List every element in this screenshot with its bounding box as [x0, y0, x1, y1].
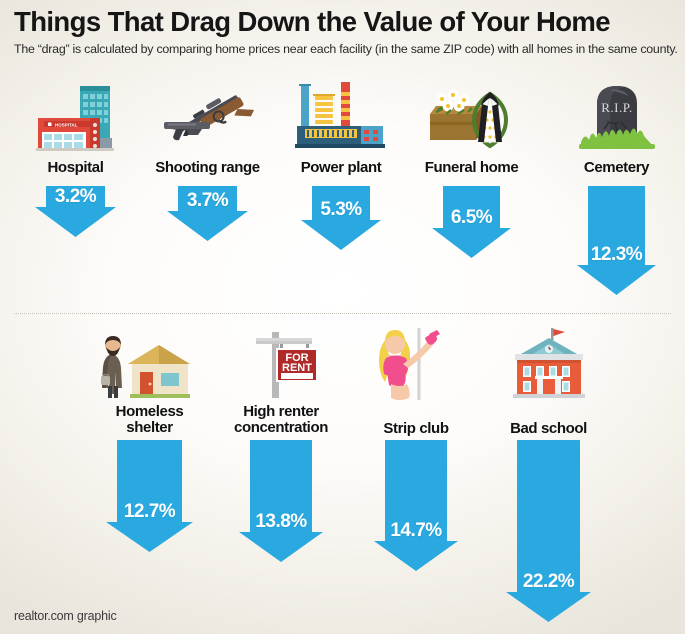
source-credit: realtor.com graphic	[14, 609, 117, 623]
metric-label: Homelessshelter	[94, 404, 205, 436]
strip-club-icon	[362, 328, 470, 400]
homeless-shelter-icon	[94, 330, 205, 400]
svg-text:R.I.P.: R.I.P.	[601, 100, 633, 115]
metric-label-line: Bad school	[494, 421, 603, 438]
value-percent: 3.2%	[55, 186, 96, 208]
metric-label-line: concentration	[227, 420, 335, 436]
metric-label-line: Homeless	[94, 404, 205, 420]
metric-label: Strip club	[362, 421, 470, 438]
metric-item: Homelessshelter 12.7%	[94, 0, 205, 634]
value-arrow: 14.7%	[374, 440, 458, 571]
metric-label: Bad school	[494, 421, 603, 438]
metric-item: Strip club 14.7%	[362, 0, 470, 634]
metric-label-line: Strip club	[362, 421, 470, 438]
metric-item: FOR RENT High renterconcentration 13.8%	[227, 0, 335, 634]
value-percent: 13.8%	[255, 511, 306, 533]
svg-text:HOSPITAL: HOSPITAL	[55, 122, 78, 127]
metric-item: SCHOOL Bad school 22.2%	[494, 0, 603, 634]
value-arrow: 13.8%	[239, 440, 323, 562]
value-percent: 22.2%	[523, 571, 574, 593]
svg-text:RENT: RENT	[282, 362, 312, 374]
school-icon: SCHOOL	[494, 328, 603, 400]
infographic-canvas: Things That Drag Down the Value of Your …	[0, 0, 685, 634]
value-percent: 14.7%	[390, 520, 441, 542]
value-arrow: 22.2%	[506, 440, 591, 622]
value-arrow: 12.7%	[106, 440, 193, 552]
metric-label: High renterconcentration	[227, 404, 335, 436]
value-percent: 12.7%	[124, 501, 175, 523]
metric-label-line: shelter	[94, 420, 205, 436]
metric-label-line: High renter	[227, 404, 335, 420]
for-rent-sign-icon: FOR RENT	[227, 328, 335, 400]
